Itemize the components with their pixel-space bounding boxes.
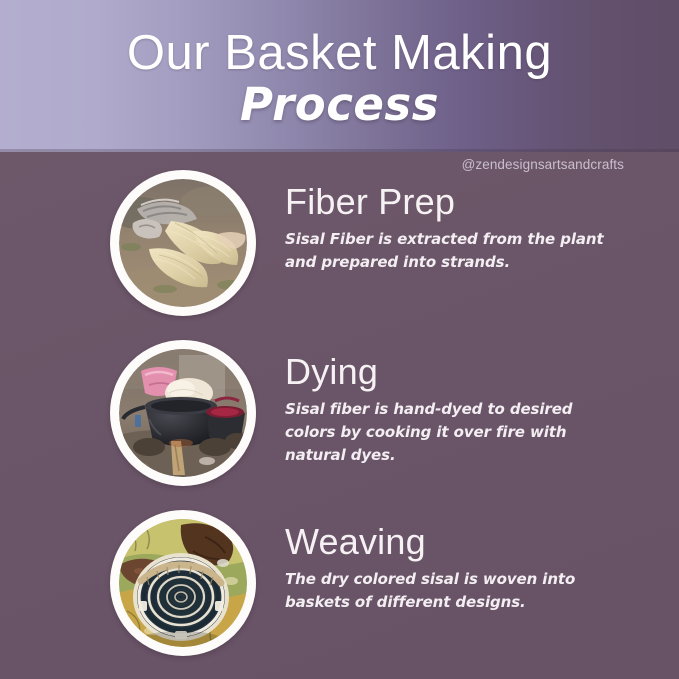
step-description: The dry colored sisal is woven into bask… (285, 568, 615, 614)
step-title: Weaving (285, 522, 679, 562)
step-item: Weaving The dry colored sisal is woven i… (0, 510, 679, 672)
step-title: Fiber Prep (285, 182, 679, 222)
hands-weaving-basket-photo (119, 519, 247, 647)
dye-pot-over-fire-photo (119, 349, 247, 477)
sisal-fiber-drying-photo (119, 179, 247, 307)
step-photo-frame (110, 510, 256, 656)
step-title: Dying (285, 352, 679, 392)
step-description: Sisal Fiber is extracted from the plant … (285, 228, 615, 274)
step-text-block: Dying Sisal fiber is hand-dyed to desire… (256, 340, 679, 467)
step-item: Fiber Prep Sisal Fiber is extracted from… (0, 170, 679, 332)
step-text-block: Fiber Prep Sisal Fiber is extracted from… (256, 170, 679, 274)
step-description: Sisal fiber is hand-dyed to desired colo… (285, 398, 615, 466)
step-item: Dying Sisal fiber is hand-dyed to desire… (0, 340, 679, 502)
step-text-block: Weaving The dry colored sisal is woven i… (256, 510, 679, 614)
page-title-line-1: Our Basket Making (0, 0, 679, 79)
page-title-line-2: Process (0, 79, 679, 128)
social-handle: @zendesignsartsandcrafts (462, 157, 624, 172)
step-photo-frame (110, 170, 256, 316)
step-photo-frame (110, 340, 256, 486)
infographic-poster: Our Basket Making Process @zendesignsart… (0, 0, 679, 679)
steps-list: Fiber Prep Sisal Fiber is extracted from… (0, 170, 679, 679)
title-block: Our Basket Making Process (0, 0, 679, 129)
